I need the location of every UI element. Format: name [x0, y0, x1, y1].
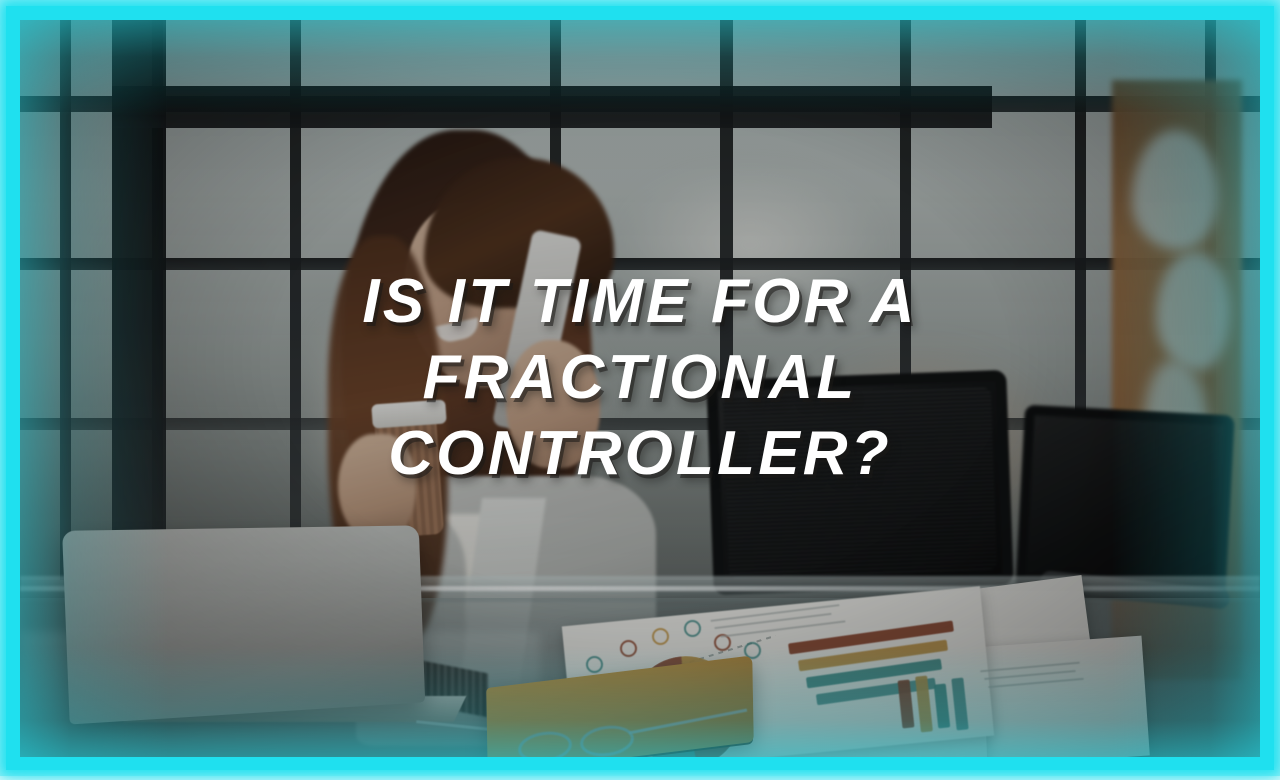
headline-line-2: FRACTIONAL — [90, 340, 1190, 416]
headline-line-1: IS IT TIME FOR A — [90, 264, 1190, 340]
headline-block: IS IT TIME FOR A FRACTIONAL CONTROLLER? — [0, 264, 1280, 492]
headline-line-3: CONTROLLER? — [90, 416, 1190, 492]
banner-root: 70% IS IT TIME FOR A FRACTIONAL CONTROLL — [0, 0, 1280, 780]
